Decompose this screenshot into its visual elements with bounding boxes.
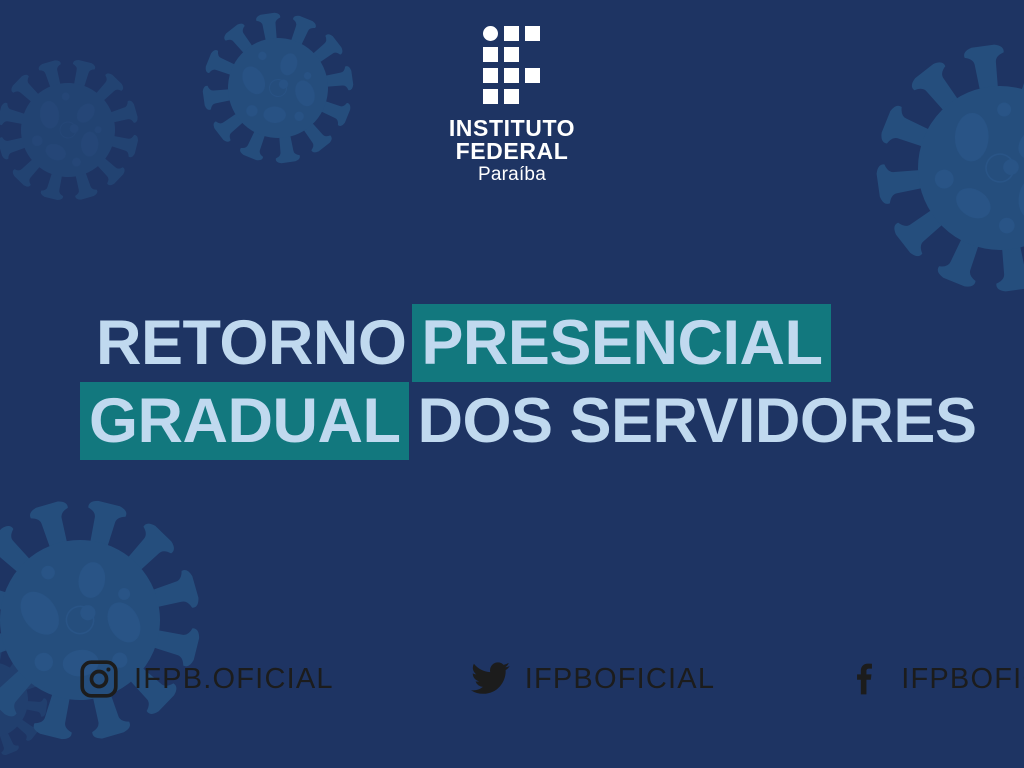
logo-cell-circle bbox=[483, 26, 498, 41]
social-handle-facebook: IFPBOFICIAL bbox=[901, 663, 1024, 696]
social-handle-twitter: IFPBOFICIAL bbox=[525, 663, 715, 696]
headline: RETORNOPRESENCIAL GRADUALDOS SERVIDORES bbox=[88, 304, 968, 460]
logo-cell bbox=[525, 68, 540, 83]
instituto-federal-grid-mark bbox=[483, 26, 541, 106]
headline-line-1: RETORNOPRESENCIAL bbox=[88, 304, 968, 382]
social-item-twitter[interactable]: IFPBOFICIAL bbox=[469, 658, 715, 700]
headline-chunk-gradual: GRADUAL bbox=[80, 382, 409, 460]
headline-chunk-presencial: PRESENCIAL bbox=[412, 304, 831, 382]
headline-chunk-dos-servidores: DOS SERVIDORES bbox=[409, 382, 982, 460]
logo-line-federal: FEDERAL bbox=[449, 140, 575, 163]
logo-line-instituto: INSTITUTO bbox=[449, 117, 575, 140]
virus-decoration-bottom-left bbox=[0, 472, 228, 768]
logo-cell bbox=[504, 89, 519, 104]
logo-line-paraiba: Paraíba bbox=[449, 166, 575, 185]
facebook-icon[interactable] bbox=[845, 658, 887, 700]
social-item-facebook[interactable]: IFPBOFICIAL bbox=[845, 658, 1024, 700]
logo-cell bbox=[525, 26, 540, 41]
social-handle-instagram: IFPB.OFICIAL bbox=[134, 663, 334, 696]
instagram-icon[interactable] bbox=[78, 658, 120, 700]
logo-cell bbox=[504, 26, 519, 41]
logo-cell bbox=[483, 47, 498, 62]
poster-canvas: INSTITUTO FEDERAL Paraíba RETORNOPRESENC… bbox=[0, 0, 1024, 768]
headline-chunk-retorno: RETORNO bbox=[88, 304, 412, 382]
ifpb-logo: INSTITUTO FEDERAL Paraíba bbox=[0, 26, 1024, 184]
social-handles-row: IFPB.OFICIAL IFPBOFICIAL IFPBOFICIAL bbox=[0, 658, 1024, 700]
social-item-instagram[interactable]: IFPB.OFICIAL bbox=[78, 658, 334, 700]
virus-decoration-left-mid bbox=[0, 636, 54, 765]
logo-cell bbox=[483, 89, 498, 104]
headline-line-2: GRADUALDOS SERVIDORES bbox=[80, 382, 968, 460]
logo-wordmark: INSTITUTO FEDERAL Paraíba bbox=[449, 117, 575, 184]
logo-cell bbox=[483, 68, 498, 83]
logo-cell bbox=[504, 68, 519, 83]
logo-cell bbox=[504, 47, 519, 62]
twitter-icon[interactable] bbox=[469, 658, 511, 700]
